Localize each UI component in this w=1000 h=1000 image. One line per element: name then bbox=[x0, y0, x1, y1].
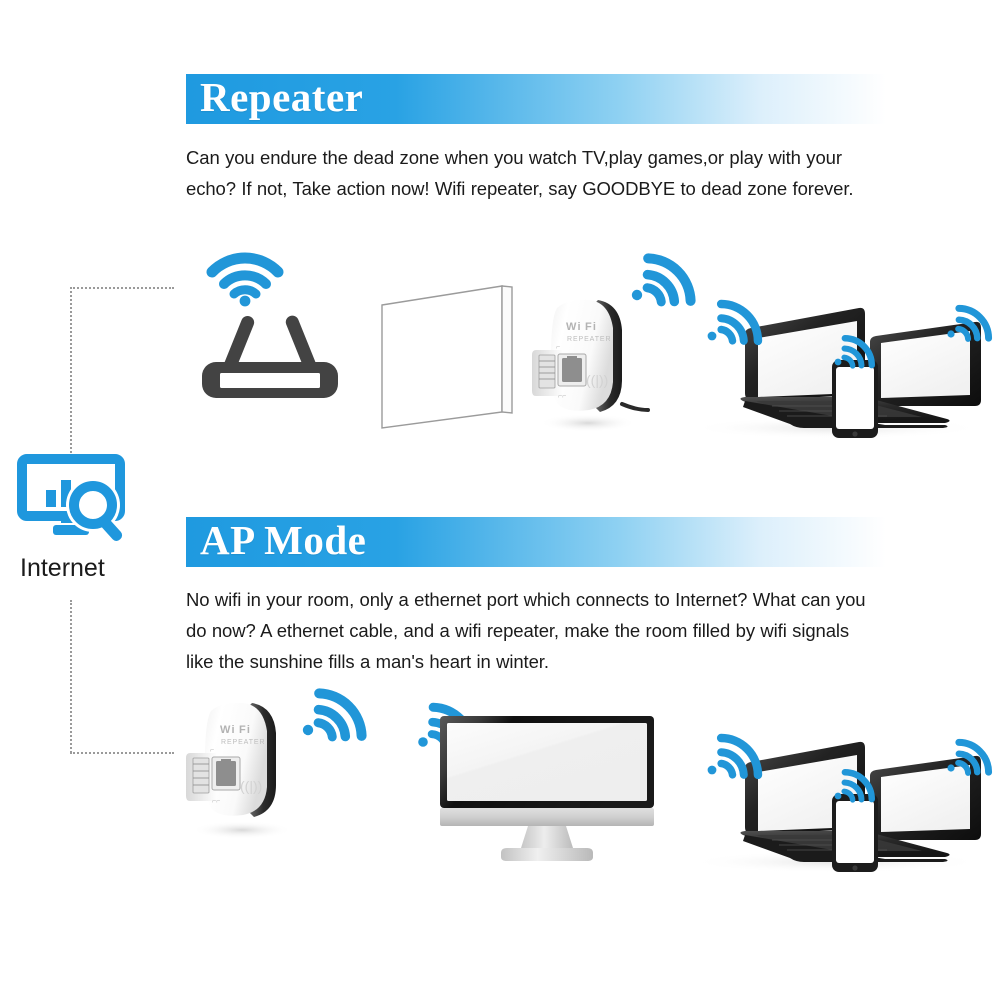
internet-monitor-search-icon bbox=[22, 452, 130, 552]
svg-text:⌐: ⌐ bbox=[556, 344, 560, 351]
wifi-router-icon bbox=[196, 310, 344, 400]
svg-text:REPEATER: REPEATER bbox=[567, 336, 611, 343]
wifi-repeater-device-2: Wi Fi REPEATER ((|)) ⌐ ⌐⌐ bbox=[178, 695, 304, 840]
dashed-connector-top-horizontal bbox=[70, 287, 174, 289]
dashed-connector-bottom-vertical bbox=[70, 600, 72, 753]
section-body-ap-mode: No wifi in your room, only a ethernet po… bbox=[186, 584, 878, 677]
svg-text:⌐: ⌐ bbox=[210, 747, 214, 754]
dashed-connector-top-vertical bbox=[70, 287, 72, 457]
section-heading-ap-mode: AP Mode bbox=[200, 515, 366, 565]
svg-text:⌐⌐: ⌐⌐ bbox=[212, 798, 220, 805]
svg-text:⌐⌐: ⌐⌐ bbox=[558, 393, 566, 400]
section-heading-bar-repeater: Repeater bbox=[186, 74, 886, 124]
infographic-page: Internet Repeater Can you endure the dea… bbox=[0, 0, 1000, 1000]
svg-text:Fi: Fi bbox=[239, 724, 251, 736]
wifi-repeater-device-1: Wi Fi REPEATER ((|)) ⌐ ⌐⌐ bbox=[524, 292, 650, 432]
svg-text:REPEATER: REPEATER bbox=[221, 739, 265, 746]
internet-node-label: Internet bbox=[20, 554, 105, 583]
section-body-repeater: Can you endure the dead zone when you wa… bbox=[186, 142, 878, 204]
dashed-connector-bottom-horizontal bbox=[70, 752, 174, 754]
desktop-monitor bbox=[438, 714, 656, 864]
client-devices-group-2 bbox=[676, 722, 994, 872]
client-devices-group-1 bbox=[676, 288, 994, 438]
wifi-signal-router bbox=[206, 245, 284, 307]
svg-text:Wi: Wi bbox=[566, 321, 582, 333]
svg-text:((|)): ((|)) bbox=[586, 372, 608, 388]
svg-text:Wi: Wi bbox=[220, 724, 236, 736]
section-heading-bar-ap-mode: AP Mode bbox=[186, 517, 886, 567]
section-heading-repeater: Repeater bbox=[200, 72, 363, 122]
wall-panel bbox=[376, 272, 524, 432]
svg-text:((|)): ((|)) bbox=[240, 778, 262, 794]
internet-node: Internet bbox=[22, 452, 130, 552]
svg-text:Fi: Fi bbox=[585, 321, 597, 333]
